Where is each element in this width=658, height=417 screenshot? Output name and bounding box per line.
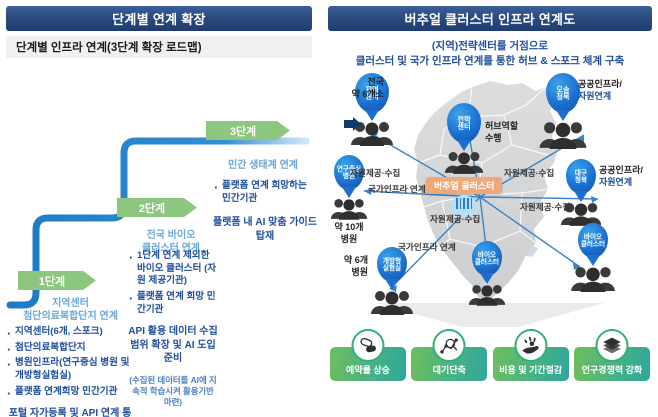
lead-line-2: 클러스터 및 국가 인프라 연계를 통한 허브 & 스포크 체계 구축 — [322, 54, 658, 69]
right-panel: 버추얼 클러스터 인프라 연계도 (지역)전략센터를 거점으로 클러스터 및 국… — [322, 0, 658, 417]
pin-osong-label: 오송청북 — [556, 86, 569, 102]
caption-regional-center-line2: 약 6개소 — [322, 89, 384, 101]
pin-bio-cluster-2-label: 바이오클러스터 — [581, 234, 605, 249]
korea-map-diagram: 지역센터 전국 약 6개소 전략센터 — [322, 71, 658, 329]
caption-regional-center-line1: 전국 — [322, 77, 384, 89]
right-panel-header: 버추얼 클러스터 인프라 연계도 — [328, 6, 652, 31]
pin-daegu: 대구청북 — [566, 159, 596, 194]
stage-1-bullet-list: 지역센터(6개, 스포크) 첨단의료복합단지 병원인프라(연구중심 병원 및 개… — [6, 326, 134, 398]
pin-strategy-center: 전략센터 — [447, 103, 481, 143]
stage-1-content: 지역센터(6개, 스포크) 첨단의료복합단지 병원인프라(연구중심 병원 및 개… — [6, 326, 134, 417]
people-group-icon — [330, 197, 368, 220]
node-strategy-center: 전략센터 — [444, 103, 484, 174]
roadmap-diagram: 3단계 민간 생태계 연계 플랫폼 연계 희망하는 민간기관 플랫폼 내 AI … — [0, 58, 318, 417]
stage-1-badge: 1단계 — [18, 271, 96, 290]
node-open-lab: 개방형실험실 — [370, 247, 414, 315]
edge-label-3: 자원제공·수집 — [504, 167, 554, 179]
node-bio-cluster-2: 바이오클러스터 — [570, 223, 616, 292]
caption-research-hospital-line1: 약 10개 — [334, 222, 363, 233]
stage-1-bullet-1: 지역센터(6개, 스포크) — [6, 326, 134, 339]
caption-strategy-center-line1: 허브역할 — [485, 121, 518, 133]
search-network-icon-svg — [439, 336, 459, 356]
caption-open-lab-line1: 약 6개 — [328, 255, 368, 267]
stage-1-title-line1: 지역센터 — [8, 298, 133, 311]
capsule-icon — [352, 329, 385, 362]
stage-2-badge: 2단계 — [117, 198, 197, 217]
stage-3-title-line1: 민간 생태계 연계 — [213, 160, 313, 173]
stage-1-bullet-3: 병원인프라(연구중심 병원 및 개방형실험실) — [6, 357, 134, 382]
people-group-icon — [468, 283, 506, 306]
caption-research-hospital: 약 10개 병원 — [334, 222, 363, 245]
caption-regional-center: 전국 약 6개소 — [322, 77, 384, 100]
virtual-cluster-hub: 버추얼 클러스터 — [426, 177, 502, 217]
caption-open-lab: 약 6개 병원 — [328, 255, 368, 278]
pin-open-lab-label: 개방형실험실 — [383, 258, 401, 273]
books-icon — [595, 329, 628, 362]
infographic-page: 단계별 연계 확장 단계별 인프라 연계(3단계 확장 로드맵) 3단계 민간 … — [0, 0, 658, 417]
stage-2-highlight: API 활용 데이터 수집 범위 확장 및 AI 도입준비 — [128, 325, 218, 366]
stage-1-bullet-4: 플랫폼 연계희망 민간기관 — [6, 386, 134, 399]
edge-label-2: 자원제공·수집 — [430, 213, 480, 225]
people-group-icon — [444, 150, 484, 174]
caption-daegu-line1: 공공인프라/ — [599, 165, 643, 177]
stage-2-title-line1: 전국 바이오 — [126, 230, 216, 243]
stage-3-highlight: 플랫폼 내 AI 맞춤 가이드 탑재 — [213, 216, 317, 243]
people-group-icon — [370, 289, 414, 315]
stage-1-bullet-2: 첨단의료복합단지 — [6, 342, 134, 355]
benefit-item-1: 예약률 상승 — [330, 331, 406, 395]
left-panel-subtitle: 단계별 인프라 연계(3단계 확장 로드맵) — [6, 36, 312, 58]
node-daegu: 대구청북 — [560, 159, 602, 226]
stage-2-bullet-list: 1단계 연계 제외한 바이오 클러스터 (자원 제공기관) 플랫폼 연계 희망 … — [128, 250, 218, 316]
stage-3-title: 민간 생태계 연계 — [213, 160, 313, 173]
hand-savings-icon-svg — [520, 335, 541, 356]
virtual-cluster-hub-label: 버추얼 클러스터 — [426, 177, 502, 194]
books-icon-svg — [601, 335, 622, 356]
people-group-icon — [538, 120, 588, 149]
lead-line-1: (지역)전략센터를 거점으로 — [322, 39, 658, 54]
stage-2-highlight-note: (수집된 데이터를 AI에 지속적 학습시켜 활용기반 마련) — [128, 375, 218, 409]
capsule-icon-svg — [358, 336, 378, 356]
pin-bio-cluster-2: 바이오클러스터 — [578, 223, 608, 258]
benefit-item-2: 대기단축 — [411, 331, 487, 395]
caption-research-hospital-line2: 병원 — [334, 234, 363, 245]
caption-strategy-center: 허브역할 수행 — [485, 121, 518, 144]
stage-2-content: 1단계 연계 제외한 바이오 클러스터 (자원 제공기관) 플랫폼 연계 희망 … — [128, 250, 218, 409]
stage-3-badge: 3단계 — [206, 121, 290, 140]
edge-label-5: 국가인프라 연계 — [368, 183, 426, 195]
pin-osong: 오송청북 — [546, 73, 580, 113]
caption-osong-line1: 공공인프라/ — [578, 79, 622, 91]
benefit-item-4: 연구경쟁력 강화 — [574, 331, 650, 395]
benefits-row: 예약률 상승 대기단축 — [322, 331, 658, 395]
caption-osong: 공공인프라/ 자원연계 — [578, 79, 622, 102]
edge-label-1: 자원제공·수집 — [350, 167, 400, 179]
pin-strategy-center-label: 전략센터 — [457, 116, 470, 132]
caption-osong-line2: 자원연계 — [578, 91, 622, 103]
stage-1-title-line2: 첨단의료복합단지 연계 — [8, 311, 133, 324]
stage-3-content: 플랫폼 연계 희망하는 민간기관 플랫폼 내 AI 맞춤 가이드 탑재 — [213, 180, 317, 243]
edge-label-6: 국가인프라 연계 — [398, 241, 456, 253]
caption-daegu: 공공인프라/ 자원연계 — [599, 165, 643, 188]
stage-1-highlight: 포털 자가등록 및 API 연계 통한 시범사업 실시 — [6, 407, 134, 417]
inbound-arrow-icon — [344, 117, 362, 131]
pin-bio-cluster-1: 바이오클러스터 — [472, 241, 502, 276]
search-network-icon — [433, 329, 466, 362]
stage-2-bullet-2: 플랫폼 연계 희망 민간기관 — [128, 291, 218, 316]
node-bio-cluster-1: 바이오클러스터 — [468, 241, 506, 306]
left-panel-header: 단계별 연계 확장 — [6, 6, 312, 31]
left-panel: 단계별 연계 확장 단계별 인프라 연계(3단계 확장 로드맵) 3단계 민간 … — [0, 0, 318, 417]
caption-open-lab-line2: 병원 — [328, 267, 368, 279]
stage-2-bullet-1: 1단계 연계 제외한 바이오 클러스터 (자원 제공기관) — [128, 250, 218, 288]
caption-daegu-line2: 자원연계 — [599, 177, 643, 189]
stage-1-title: 지역센터 첨단의료복합단지 연계 — [8, 298, 133, 323]
stage-3-bullet-1: 플랫폼 연계 희망하는 민간기관 — [213, 180, 317, 205]
people-group-icon — [570, 265, 616, 292]
hand-savings-icon — [514, 329, 547, 362]
edge-label-4: 자원제공·수집 — [520, 201, 570, 213]
pin-daegu-label: 대구청북 — [575, 170, 587, 185]
stage-3-bullet-list: 플랫폼 연계 희망하는 민간기관 — [213, 180, 317, 205]
caption-strategy-center-line2: 수행 — [485, 133, 518, 145]
benefit-item-3: 비용 및 기간절감 — [493, 331, 569, 395]
pin-bio-cluster-1-label: 바이오클러스터 — [475, 252, 499, 267]
right-panel-lead: (지역)전략센터를 거점으로 클러스터 및 국가 인프라 연계를 통한 허브 &… — [322, 39, 658, 69]
